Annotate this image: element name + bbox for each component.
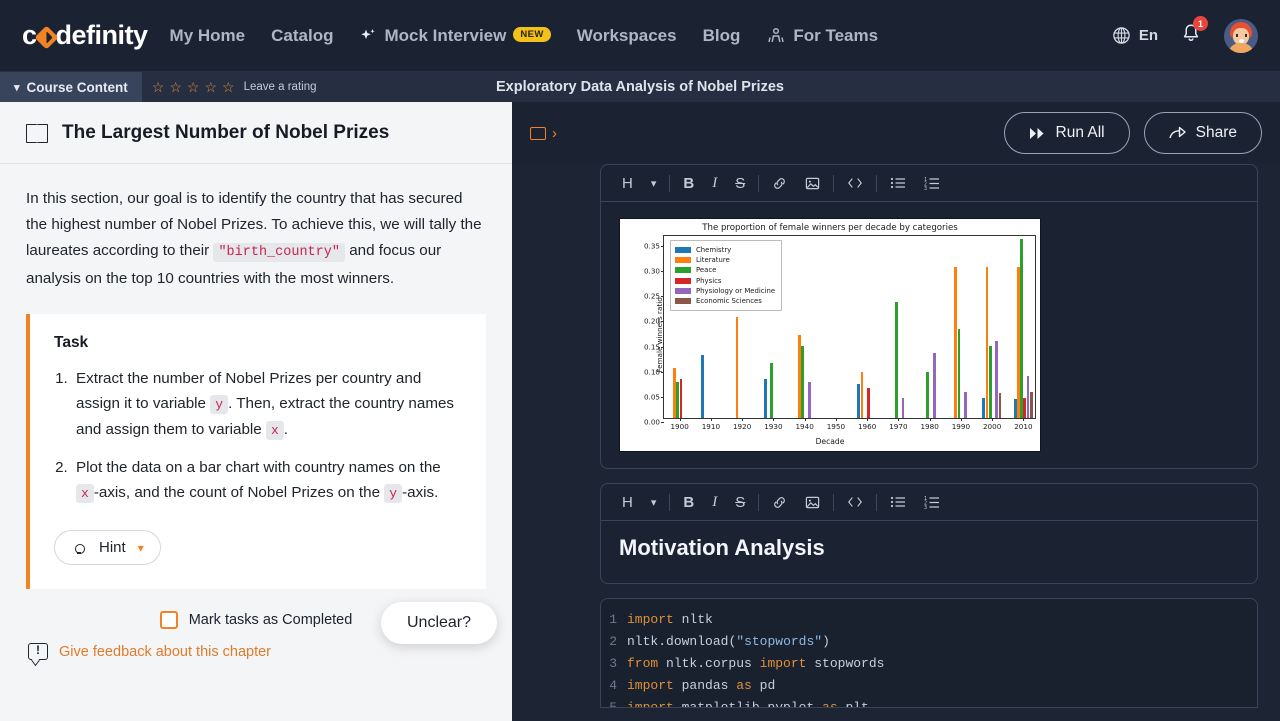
markdown-editor-card-2: H ▾ B I S	[600, 483, 1258, 584]
chart-x-tick-mark	[711, 418, 712, 421]
markdown-toolbar-2: H ▾ B I S	[601, 484, 1257, 521]
task-2-text-a: Plot the data on a bar chart with countr…	[76, 459, 441, 476]
toolbar-divider	[876, 175, 877, 192]
task-1-variable-x: x	[266, 421, 284, 440]
workspace-panel: › Run All Share H ▾ B	[512, 102, 1280, 721]
chart-x-tick-mark	[898, 418, 899, 421]
codefinity-logo[interactable]: c definity	[22, 20, 148, 51]
chart-bar	[964, 392, 967, 418]
workspace-toolbar: › Run All Share	[512, 102, 1280, 164]
chart-x-tick: 1940	[795, 422, 813, 431]
hint-label: Hint	[99, 539, 126, 556]
rating-star-3[interactable]: ☆	[187, 80, 200, 94]
chart-legend-item: Peace	[675, 265, 775, 275]
code-line: 5import matplotlib.pyplot as plt	[601, 697, 1257, 708]
nav-item-my-home[interactable]: My Home	[170, 26, 246, 46]
chart-bar	[895, 302, 898, 418]
chart-x-tick-mark	[805, 418, 806, 421]
chart-x-tick: 1920	[733, 422, 751, 431]
chart-x-tick-mark	[867, 418, 868, 421]
code-token: "stopwords"	[736, 634, 822, 649]
chart-legend-swatch	[675, 267, 691, 273]
task-2-variable-x: x	[76, 484, 94, 503]
code-token: nltk.corpus	[658, 656, 759, 671]
code-line-content: import pandas as pd	[627, 675, 775, 697]
toolbar-divider	[833, 494, 834, 511]
nav-item-mock-interview[interactable]: Mock Interview NEW	[359, 26, 550, 46]
code-line-number: 4	[601, 675, 627, 697]
notebook-cell-markdown: H ▾ B I S	[600, 483, 1258, 584]
rating-label: Leave a rating	[244, 81, 317, 93]
hint-button[interactable]: Hint ▾	[54, 530, 161, 565]
nav-item-mock-interview-label: Mock Interview	[384, 26, 506, 46]
strikethrough-button[interactable]: S	[726, 490, 754, 514]
chart-legend-label: Economic Sciences	[696, 297, 762, 305]
chart-y-tick: 0.15	[644, 342, 660, 351]
user-avatar[interactable]	[1224, 19, 1258, 53]
feedback-link[interactable]: Give feedback about this chapter	[59, 644, 271, 660]
notifications-button[interactable]: 1	[1180, 22, 1202, 49]
chart-legend-item: Economic Sciences	[675, 296, 775, 306]
code-token: import	[760, 656, 807, 671]
feedback-icon	[28, 643, 48, 660]
notebook-cell-chart: H ▾ B I S	[600, 164, 1258, 469]
chart-x-tick-mark	[742, 418, 743, 421]
chart-y-tick-mark	[661, 422, 664, 423]
code-line-number: 2	[601, 631, 627, 653]
chart-x-tick-mark	[992, 418, 993, 421]
italic-button[interactable]: I	[703, 490, 726, 514]
chart-x-tick-mark	[836, 418, 837, 421]
markdown-editor-card-1: H ▾ B I S	[600, 164, 1258, 469]
code-token: nltk	[627, 634, 658, 649]
chart-legend-label: Physics	[696, 277, 721, 285]
chart-y-tick-mark	[661, 321, 664, 322]
nav-item-workspaces[interactable]: Workspaces	[577, 26, 677, 46]
bold-button[interactable]: B	[674, 490, 703, 514]
chart-x-tick-mark	[680, 418, 681, 421]
chart-y-tick-mark	[661, 296, 664, 297]
nav-item-workspaces-label: Workspaces	[577, 26, 677, 46]
chart-x-tick: 1960	[858, 422, 876, 431]
code-line-content: import nltk	[627, 609, 713, 631]
chart-bar	[770, 363, 773, 418]
rating-star-2[interactable]: ☆	[169, 80, 182, 94]
code-token: pandas	[674, 678, 736, 693]
mark-tasks-label: Mark tasks as Completed	[189, 612, 353, 628]
run-all-icon	[1029, 127, 1046, 140]
chart-bar	[933, 353, 936, 418]
chart-title: The proportion of female winners per dec…	[620, 223, 1040, 233]
task-2-text-b: -axis, and the count of Nobel Prizes on …	[94, 484, 380, 501]
lesson-body: In this section, our goal is to identify…	[0, 164, 512, 660]
chart-x-tick: 1970	[889, 422, 907, 431]
markdown-heading: Motivation Analysis	[619, 535, 1239, 561]
chart-y-tick: 0.35	[644, 242, 660, 251]
code-token: stopwords	[806, 656, 884, 671]
logo-text-left: c	[22, 20, 37, 51]
code-token: plt	[838, 700, 869, 708]
share-icon	[1169, 126, 1186, 141]
course-content-label: Course Content	[27, 80, 128, 95]
code-token: import	[627, 678, 674, 693]
task-2-variable-y: y	[384, 484, 402, 503]
workspace-actions: Run All Share	[1004, 112, 1263, 154]
chart-legend-label: Literature	[696, 256, 730, 264]
share-button[interactable]: Share	[1144, 112, 1262, 154]
bullet-list-icon[interactable]	[881, 171, 915, 195]
code-token: matplotlib.pyplot	[674, 700, 822, 708]
chart-bar	[867, 388, 870, 418]
strikethrough-button[interactable]: S	[726, 171, 754, 195]
rating-star-4[interactable]: ☆	[204, 80, 217, 94]
chart-x-tick: 1900	[670, 422, 688, 431]
code-icon[interactable]	[838, 490, 872, 514]
code-line-number: 1	[601, 609, 627, 631]
code-token: import	[627, 700, 674, 708]
code-token: from	[627, 656, 658, 671]
chevron-down-icon[interactable]: ▾	[642, 490, 666, 514]
chart-x-tick-mark	[930, 418, 931, 421]
code-token: as	[822, 700, 838, 708]
code-cell[interactable]: 1import nltk2nltk.download("stopwords")3…	[600, 598, 1258, 708]
chart-x-tick: 1910	[702, 422, 720, 431]
rating-widget[interactable]: ☆ ☆ ☆ ☆ ☆ Leave a rating	[152, 80, 317, 94]
code-token: pd	[752, 678, 775, 693]
chevron-right-icon[interactable]: ›	[552, 125, 557, 142]
matplotlib-chart: The proportion of female winners per dec…	[619, 218, 1041, 452]
lesson-header: The Largest Number of Nobel Prizes	[0, 102, 512, 164]
new-badge: NEW	[513, 27, 550, 42]
code-token: nltk	[674, 612, 713, 627]
bold-button[interactable]: B	[674, 171, 703, 195]
chart-bar	[861, 372, 864, 418]
task-1-text-c: .	[284, 421, 288, 438]
avatar-eye-left	[1236, 34, 1238, 37]
chart-x-tick: 1990	[952, 422, 970, 431]
task-2-text-c: -axis.	[402, 484, 438, 501]
toolbar-divider	[833, 175, 834, 192]
avatar-eye-right	[1245, 34, 1247, 37]
toolbar-divider	[669, 494, 670, 511]
chart-y-tick: 0.30	[644, 267, 660, 276]
task-list-item-2: Plot the data on a bar chart with countr…	[72, 455, 462, 506]
folder-icon[interactable]	[530, 127, 546, 140]
code-icon[interactable]	[838, 171, 872, 195]
logo-diamond-icon	[34, 25, 58, 49]
chart-bar	[680, 379, 683, 418]
code-line: 1import nltk	[601, 609, 1257, 631]
chart-legend-item: Physiology or Medicine	[675, 286, 775, 296]
nav-item-blog[interactable]: Blog	[703, 26, 741, 46]
numbered-list-icon[interactable]: 123	[915, 490, 949, 514]
chart-x-tick: 1930	[764, 422, 782, 431]
sparkle-icon	[359, 27, 377, 45]
task-list-item-1: Extract the number of Nobel Prizes per c…	[72, 366, 462, 443]
task-heading: Task	[54, 334, 462, 352]
chart-plot-area: ChemistryLiteraturePeacePhysicsPhysiolog…	[663, 235, 1036, 419]
code-line-content: nltk.download("stopwords")	[627, 631, 830, 653]
italic-button[interactable]: I	[703, 171, 726, 195]
chart-bar	[808, 382, 811, 418]
task-card: Task Extract the number of Nobel Prizes …	[26, 314, 486, 589]
chart-y-tick-mark	[661, 246, 664, 247]
chevron-down-icon[interactable]: ▾	[642, 171, 666, 195]
chart-bar	[902, 398, 905, 418]
nav-item-my-home-label: My Home	[170, 26, 246, 46]
globe-icon	[1112, 26, 1131, 45]
rating-star-1[interactable]: ☆	[152, 80, 165, 94]
nav-item-catalog[interactable]: Catalog	[271, 26, 333, 46]
chart-legend-swatch	[675, 278, 691, 284]
chart-legend-label: Chemistry	[696, 246, 731, 254]
chevron-down-icon: ▾	[14, 81, 20, 94]
chart-y-tick: 0.25	[644, 292, 660, 301]
chart-bar	[958, 329, 961, 418]
chart-y-tick: 0.00	[644, 418, 660, 427]
toolbar-divider	[758, 494, 759, 511]
svg-text:3: 3	[924, 505, 927, 509]
code-token: )	[822, 634, 830, 649]
image-icon[interactable]	[796, 171, 829, 195]
code-token: download	[666, 634, 728, 649]
chart-bar	[736, 317, 739, 418]
code-line-number: 5	[601, 697, 627, 708]
book-icon	[26, 124, 48, 141]
chart-bar	[989, 346, 992, 418]
chart-x-tick: 1950	[827, 422, 845, 431]
link-icon[interactable]	[763, 490, 796, 514]
code-line: 3from nltk.corpus import stopwords	[601, 653, 1257, 675]
markdown-body-1[interactable]: The proportion of female winners per dec…	[601, 202, 1257, 468]
page-title: The Largest Number of Nobel Prizes	[62, 122, 389, 144]
chevron-down-icon: ▾	[138, 541, 144, 555]
course-sub-bar: Exploratory Data Analysis of Nobel Prize…	[0, 72, 1280, 102]
chart-bar	[701, 355, 704, 418]
chart-bar	[926, 372, 929, 418]
language-selector[interactable]: En	[1112, 26, 1158, 45]
code-line-content: import matplotlib.pyplot as plt	[627, 697, 869, 708]
mark-tasks-checkbox[interactable]	[160, 611, 178, 629]
nav-item-for-teams-label: For Teams	[793, 26, 878, 46]
chart-legend-swatch	[675, 257, 691, 263]
chart-legend-item: Literature	[675, 255, 775, 265]
bullet-list-icon[interactable]	[881, 490, 915, 514]
feedback-row: Give feedback about this chapter	[26, 643, 486, 660]
chart-y-tick: 0.10	[644, 367, 660, 376]
toolbar-divider	[669, 175, 670, 192]
chart-x-axis-label: Decade	[620, 437, 1040, 446]
heading-button[interactable]: H	[613, 171, 642, 195]
chart-y-tick-mark	[661, 397, 664, 398]
chart-legend-item: Physics	[675, 276, 775, 286]
code-token: as	[736, 678, 752, 693]
chart-x-tick: 2000	[983, 422, 1001, 431]
code-token: .	[658, 634, 666, 649]
run-all-label: Run All	[1056, 124, 1105, 142]
chart-legend-swatch	[675, 288, 691, 294]
chart-legend-swatch	[675, 247, 691, 253]
code-line-content: from nltk.corpus import stopwords	[627, 653, 884, 675]
notification-count-badge: 1	[1193, 16, 1208, 31]
share-label: Share	[1196, 124, 1237, 142]
chart-x-tick-mark	[961, 418, 962, 421]
nav-item-blog-label: Blog	[703, 26, 741, 46]
chart-legend-item: Chemistry	[675, 245, 775, 255]
code-line: 4import pandas as pd	[601, 675, 1257, 697]
lesson-paragraph: In this section, our goal is to identify…	[26, 186, 486, 292]
link-icon[interactable]	[763, 171, 796, 195]
markdown-body-2[interactable]: Motivation Analysis	[601, 521, 1257, 583]
nav-right-group: En 1	[1112, 19, 1258, 53]
logo-text-right: definity	[56, 20, 148, 51]
chart-legend: ChemistryLiteraturePeacePhysicsPhysiolog…	[670, 240, 782, 311]
avatar-mouth	[1239, 39, 1244, 43]
code-line: 2nltk.download("stopwords")	[601, 631, 1257, 653]
chart-bar	[801, 346, 804, 418]
code-token: import	[627, 612, 674, 627]
chart-y-tick-mark	[661, 372, 664, 373]
chart-bar	[999, 393, 1002, 418]
toolbar-divider	[876, 494, 877, 511]
unclear-button[interactable]: Unclear?	[381, 602, 497, 644]
rating-star-5[interactable]: ☆	[222, 80, 235, 94]
svg-text:3: 3	[924, 186, 927, 190]
people-icon	[766, 27, 786, 45]
run-all-button[interactable]: Run All	[1004, 112, 1130, 154]
chart-x-tick-mark	[1023, 418, 1024, 421]
course-content-toggle[interactable]: ▾ Course Content	[0, 72, 142, 102]
chart-bar	[1020, 239, 1023, 418]
inline-code-birth-country: "birth_country"	[213, 243, 345, 262]
chart-y-tick-mark	[661, 271, 664, 272]
nav-item-catalog-label: Catalog	[271, 26, 333, 46]
heading-button[interactable]: H	[613, 490, 642, 514]
nav-item-for-teams[interactable]: For Teams	[766, 26, 878, 46]
lightbulb-icon	[71, 540, 87, 556]
chart-y-tick: 0.20	[644, 317, 660, 326]
chart-y-tick-mark	[661, 347, 664, 348]
task-1-variable-y: y	[210, 395, 228, 414]
chart-bar	[764, 379, 767, 418]
chart-bar	[1030, 392, 1033, 418]
breadcrumb-course-title: Exploratory Data Analysis of Nobel Prize…	[496, 79, 784, 95]
chart-legend-swatch	[675, 298, 691, 304]
toolbar-divider	[758, 175, 759, 192]
chart-legend-label: Peace	[696, 266, 716, 274]
chart-legend-label: Physiology or Medicine	[696, 287, 775, 295]
top-navigation-bar: c definity My Home Catalog Mock Intervie…	[0, 0, 1280, 72]
code-line-number: 3	[601, 653, 627, 675]
chart-x-tick: 2010	[1014, 422, 1032, 431]
task-list: Extract the number of Nobel Prizes per c…	[72, 366, 462, 506]
chart-y-tick: 0.05	[644, 392, 660, 401]
markdown-toolbar-1: H ▾ B I S	[601, 165, 1257, 202]
image-icon[interactable]	[796, 490, 829, 514]
chart-x-tick-mark	[773, 418, 774, 421]
avatar-body	[1228, 43, 1254, 53]
chart-x-tick: 1980	[920, 422, 938, 431]
language-label: En	[1139, 27, 1158, 44]
numbered-list-icon[interactable]: 123	[915, 171, 949, 195]
